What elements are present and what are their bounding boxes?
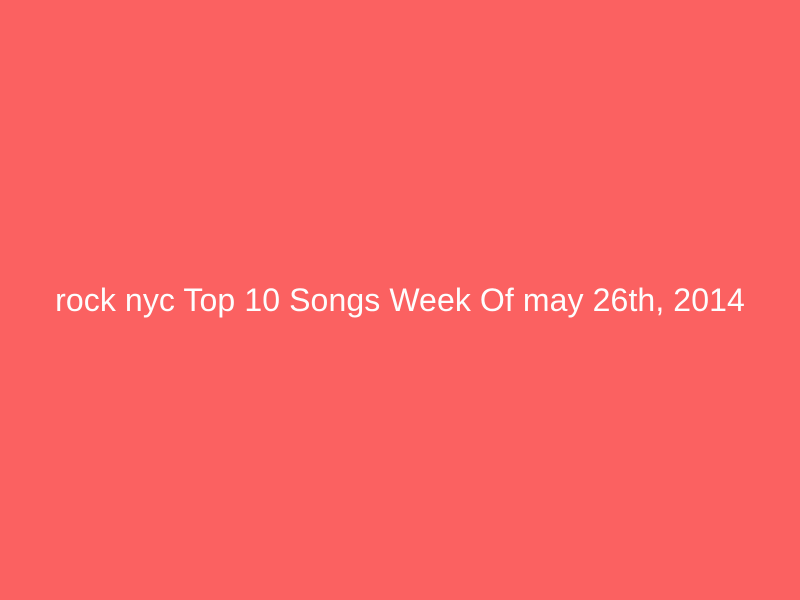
card-title: rock nyc Top 10 Songs Week Of may 26th, … [0,282,800,319]
placeholder-card: rock nyc Top 10 Songs Week Of may 26th, … [0,0,800,600]
